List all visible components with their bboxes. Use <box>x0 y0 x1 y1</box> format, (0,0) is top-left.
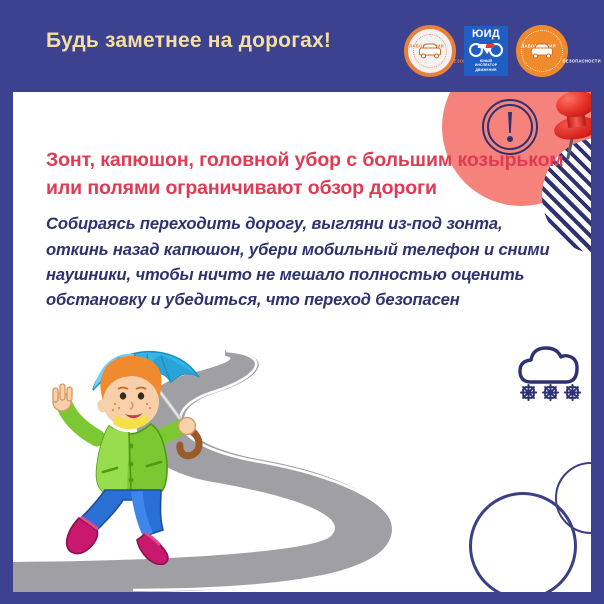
headline-text: Зонт, капюшон, головной убор с большим к… <box>46 147 566 202</box>
logo-yuid: ЮИД ЮНЫЙ ИНСПЕКТОР ДВИЖЕНИЯ <box>464 26 508 76</box>
logo-laboratoriya-bezopasnosti-ring: ЛАБОРАТОРИЯ БЕЗОПАСНОСТИ <box>404 25 456 77</box>
content-card: Зонт, капюшон, головной убор с большим к… <box>13 92 591 592</box>
text-block: Зонт, капюшон, головной убор с большим к… <box>46 147 566 312</box>
head <box>97 356 161 428</box>
car-icon <box>419 44 441 59</box>
right-hand <box>179 418 196 435</box>
body-text: Собираясь переходить дорогу, выгляни из-… <box>46 211 566 312</box>
logo-yuid-word: ЮИД <box>472 29 500 40</box>
page-title: Будь заметнее на дорогах! <box>46 29 331 53</box>
left-hand <box>53 384 72 411</box>
running-boy-with-umbrella-illustration <box>35 340 235 565</box>
logo-group: ЛАБОРАТОРИЯ БЕЗОПАСНОСТИ ЮИД ЮНЫЙ ИНСПЕК… <box>404 25 568 77</box>
logo-arc-bottom: БЕЗОПАСНОСТИ <box>563 59 601 64</box>
car-icon <box>531 44 553 59</box>
left-arm <box>65 406 97 438</box>
header-bar: Будь заметнее на дорогах! ЛАБОРАТОРИЯ БЕ… <box>0 0 604 92</box>
logo-laboratoriya-bezopasnosti-solid: ЛАБОРАТОРИЯ БЕЗОПАСНОСТИ <box>516 25 568 77</box>
logo-yuid-subtitle: ЮНЫЙ ИНСПЕКТОР ДВИЖЕНИЯ <box>475 59 497 72</box>
logo-yuid-subtitle-line3: ДВИЖЕНИЯ <box>475 68 497 72</box>
bicycle-icon <box>469 41 503 58</box>
